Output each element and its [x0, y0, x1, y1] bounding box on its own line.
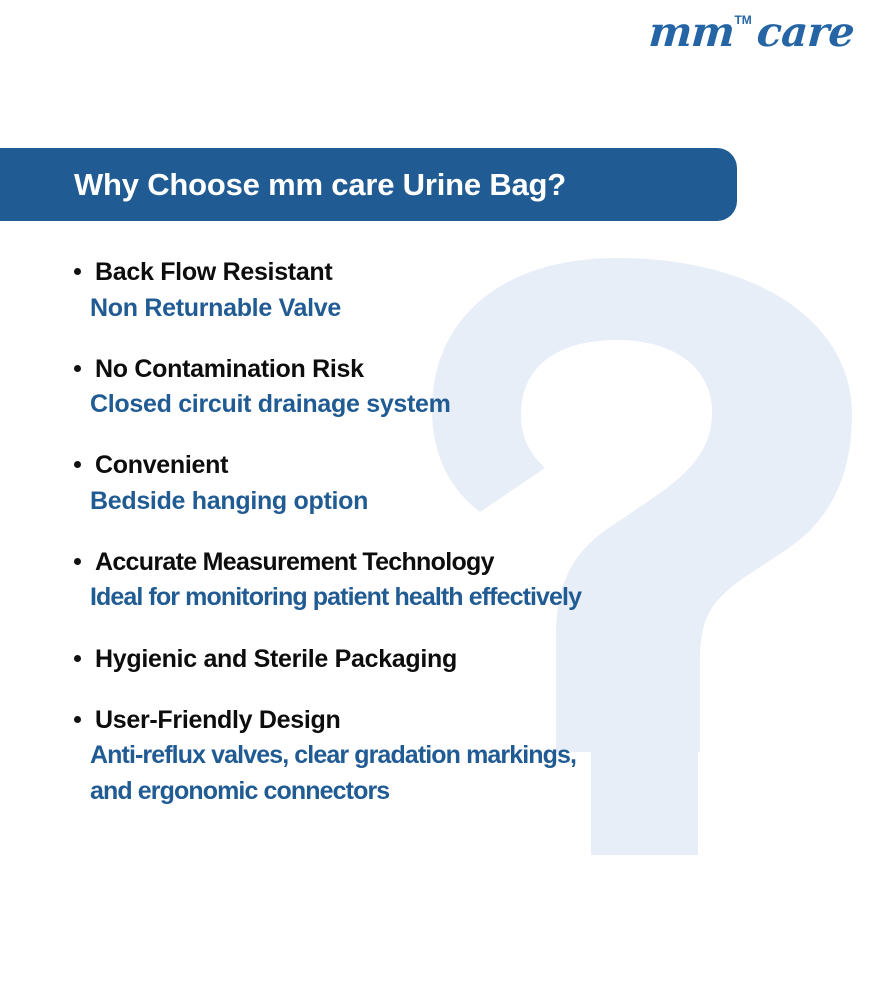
- feature-title: Back Flow Resistant: [74, 256, 880, 290]
- list-spacer: [0, 422, 880, 449]
- logo-mm-text: mm: [647, 12, 735, 53]
- bullet-dot-icon: [74, 655, 81, 662]
- feature-subtitle-line2: and ergonomic connectors: [74, 773, 880, 809]
- bullet-dot-icon: [74, 461, 81, 468]
- list-item: Convenient Bedside hanging option: [0, 449, 880, 519]
- logo-trademark-symbol: TM: [734, 14, 751, 26]
- list-spacer: [0, 519, 880, 546]
- feature-subtitle: Closed circuit drainage system: [74, 386, 880, 422]
- feature-title: Accurate Measurement Technology: [74, 546, 880, 580]
- list-item: User-Friendly Design Anti-reflux valves,…: [0, 704, 880, 810]
- list-item: Accurate Measurement Technology Ideal fo…: [0, 546, 880, 616]
- logo-care-text: care: [755, 12, 855, 53]
- list-spacer: [0, 326, 880, 353]
- feature-subtitle: Ideal for monitoring patient health effe…: [74, 579, 880, 615]
- feature-title: Hygienic and Sterile Packaging: [74, 643, 880, 677]
- feature-title: User-Friendly Design: [74, 704, 880, 738]
- feature-subtitle-line1: Anti-reflux valves, clear gradation mark…: [74, 737, 880, 773]
- list-item: Back Flow Resistant Non Returnable Valve: [0, 256, 880, 326]
- bullet-dot-icon: [74, 716, 81, 723]
- page-title: Why Choose mm care Urine Bag?: [74, 167, 566, 203]
- bullet-dot-icon: [74, 268, 81, 275]
- feature-title: No Contamination Risk: [74, 353, 880, 387]
- header-banner: Why Choose mm care Urine Bag?: [0, 148, 737, 221]
- feature-title: Convenient: [74, 449, 880, 483]
- list-item: No Contamination Risk Closed circuit dra…: [0, 353, 880, 423]
- list-spacer: [0, 615, 880, 643]
- promo-poster: mm TM care Why Choose mm care Urine Bag?…: [0, 0, 880, 1000]
- bullet-dot-icon: [74, 365, 81, 372]
- feature-subtitle: Non Returnable Valve: [74, 290, 880, 326]
- list-item: Hygienic and Sterile Packaging: [0, 643, 880, 677]
- bullet-dot-icon: [74, 558, 81, 565]
- feature-subtitle: Bedside hanging option: [74, 483, 880, 519]
- list-spacer: [0, 677, 880, 704]
- brand-logo: mm TM care: [649, 12, 854, 53]
- feature-list: Back Flow Resistant Non Returnable Valve…: [0, 256, 880, 809]
